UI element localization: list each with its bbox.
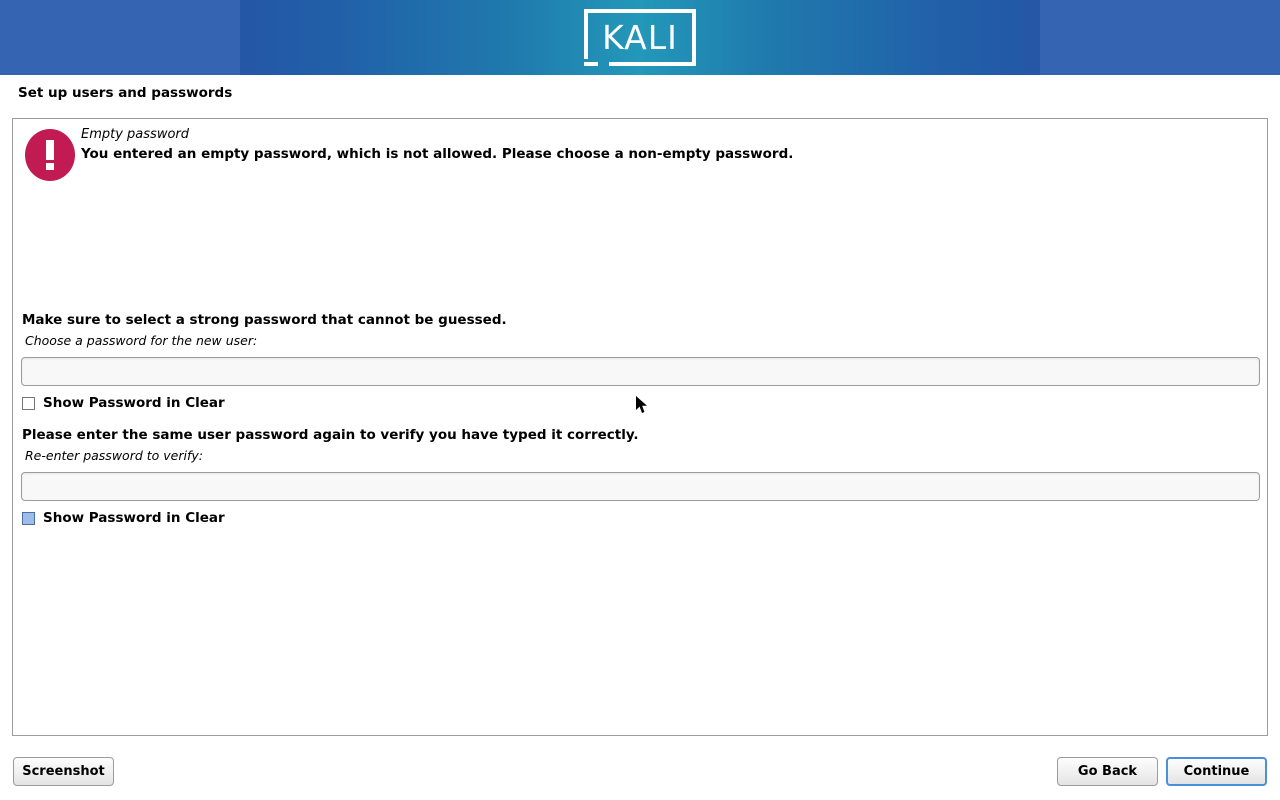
- go-back-button[interactable]: Go Back: [1057, 757, 1158, 786]
- exclamation-dot: [46, 163, 54, 170]
- checkbox-icon[interactable]: [22, 512, 35, 525]
- show-password-checkbox-row-1[interactable]: Show Password in Clear: [22, 394, 225, 412]
- verify-section-heading: Please enter the same user password agai…: [22, 427, 639, 443]
- installer-content-panel: Empty password You entered an empty pass…: [12, 118, 1268, 736]
- verify-field-label: Re-enter password to verify:: [25, 448, 203, 463]
- error-exclamation-icon: [25, 129, 75, 181]
- password-section-heading: Make sure to select a strong password th…: [22, 312, 507, 328]
- alert-block: Empty password You entered an empty pass…: [13, 119, 1269, 128]
- page-title: Set up users and passwords: [18, 85, 232, 101]
- alert-title: Empty password: [81, 127, 189, 142]
- show-password-checkbox-label-2: Show Password in Clear: [43, 510, 225, 526]
- exclamation-bar: [46, 140, 54, 160]
- checkbox-icon[interactable]: [22, 397, 35, 410]
- password-input[interactable]: [21, 357, 1260, 386]
- verify-password-input[interactable]: [21, 472, 1260, 501]
- alert-description: You entered an empty password, which is …: [81, 146, 793, 162]
- show-password-checkbox-label-1: Show Password in Clear: [43, 395, 225, 411]
- kali-wordmark: KALI: [584, 9, 696, 66]
- show-password-checkbox-row-2[interactable]: Show Password in Clear: [22, 509, 225, 527]
- kali-header-banner: KALI: [0, 0, 1280, 75]
- screenshot-button[interactable]: Screenshot: [13, 757, 114, 786]
- password-field-label: Choose a password for the new user:: [25, 333, 257, 348]
- continue-button[interactable]: Continue: [1166, 757, 1267, 786]
- kali-logo-icon: KALI: [584, 9, 696, 66]
